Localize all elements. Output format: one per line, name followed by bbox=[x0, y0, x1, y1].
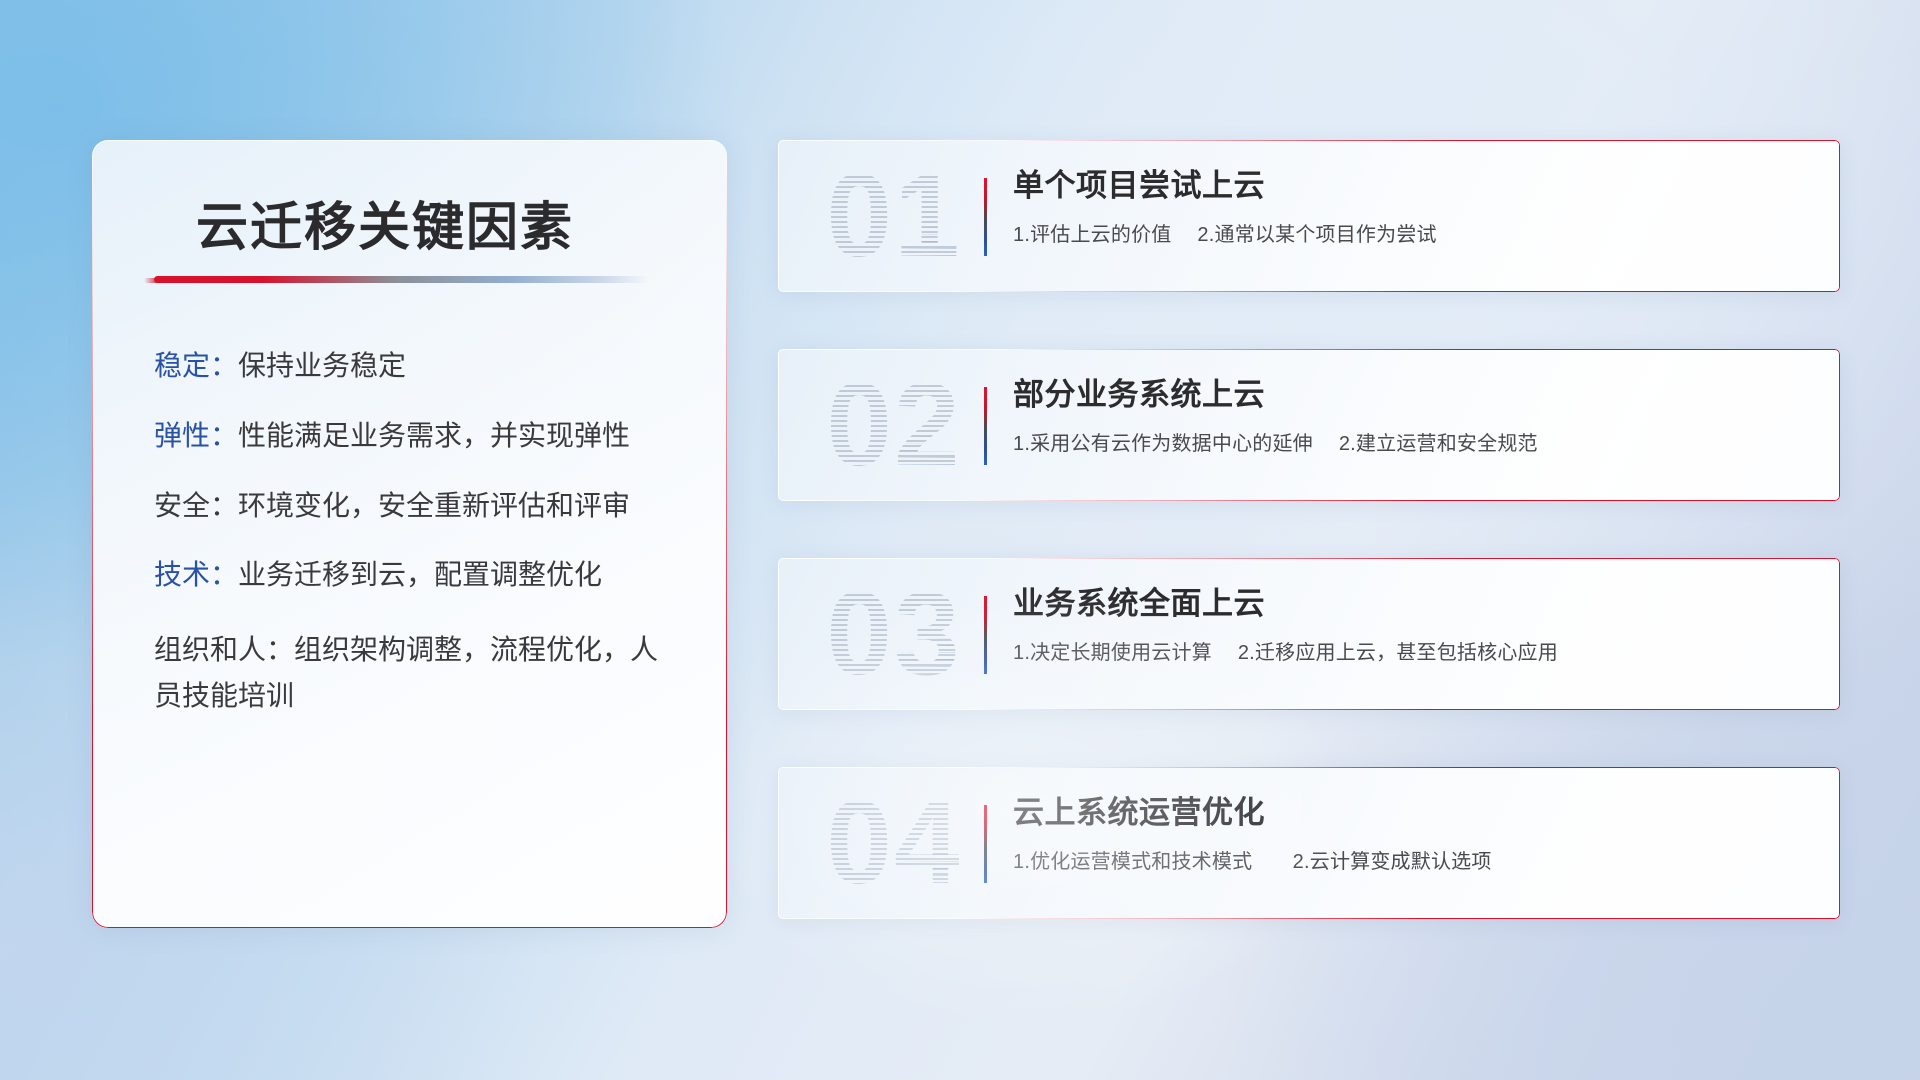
card-description: 1.评估上云的价值 2.通常以某个项目作为尝试 bbox=[1013, 218, 1816, 247]
stage-card[interactable]: 0202部分业务系统上云1.采用公有云作为数据中心的延伸 2.建立运营和安全规范 bbox=[778, 349, 1840, 501]
factor-label: 安全： bbox=[154, 490, 238, 521]
stage-card[interactable]: 0101单个项目尝试上云1.评估上云的价值 2.通常以某个项目作为尝试 bbox=[778, 140, 1840, 292]
card-step-number-watermark: 03 bbox=[804, 558, 984, 710]
factor-row: 弹性：性能满足业务需求，并实现弹性 bbox=[154, 418, 674, 454]
card-description: 1.采用公有云作为数据中心的延伸 2.建立运营和安全规范 bbox=[1013, 427, 1816, 456]
factor-row: 安全：环境变化，安全重新评估和评审 bbox=[154, 488, 674, 524]
card-title: 部分业务系统上云 bbox=[1013, 375, 1816, 415]
card-accent-bar bbox=[984, 178, 987, 256]
factor-label: 技术： bbox=[154, 559, 238, 590]
card-step-number-tint: 04 bbox=[804, 767, 984, 919]
factor-value: 环境变化，安全重新评估和评审 bbox=[238, 490, 630, 521]
card-description: 1.决定长期使用云计算 2.迁移应用上云，甚至包括核心应用 bbox=[1013, 636, 1816, 665]
card-step-number-watermark: 04 bbox=[804, 767, 984, 919]
card-text-block: 部分业务系统上云1.采用公有云作为数据中心的延伸 2.建立运营和安全规范 bbox=[1013, 375, 1816, 456]
card-text-block: 业务系统全面上云1.决定长期使用云计算 2.迁移应用上云，甚至包括核心应用 bbox=[1013, 584, 1816, 665]
card-step-number-tint: 02 bbox=[804, 349, 984, 501]
card-title: 单个项目尝试上云 bbox=[1013, 166, 1816, 206]
stage-card[interactable]: 0303业务系统全面上云1.决定长期使用云计算 2.迁移应用上云，甚至包括核心应… bbox=[778, 558, 1840, 710]
page-title: 云迁移关键因素 bbox=[196, 185, 574, 260]
factor-row: 组织和人：组织架构调整，流程优化，人员技能培训 bbox=[154, 627, 674, 718]
factor-label: 组织和人： bbox=[154, 634, 294, 665]
title-underline-gradient bbox=[154, 276, 650, 283]
card-step-number-watermark: 02 bbox=[804, 349, 984, 501]
card-accent-bar bbox=[984, 387, 987, 465]
factor-value: 保持业务稳定 bbox=[238, 350, 406, 381]
factor-row: 技术：业务迁移到云，配置调整优化 bbox=[154, 557, 674, 593]
factor-label: 稳定： bbox=[154, 350, 238, 381]
card-title: 业务系统全面上云 bbox=[1013, 584, 1816, 624]
card-step-number-watermark: 01 bbox=[804, 140, 984, 292]
factor-value: 性能满足业务需求，并实现弹性 bbox=[238, 420, 630, 451]
factor-value: 业务迁移到云，配置调整优化 bbox=[238, 559, 602, 590]
card-description: 1.优化运营模式和技术模式 2.云计算变成默认选项 bbox=[1013, 845, 1816, 874]
slide-root: 云迁移关键因素 稳定：保持业务稳定弹性：性能满足业务需求，并实现弹性安全：环境变… bbox=[0, 0, 1920, 1080]
card-title: 云上系统运营优化 bbox=[1013, 793, 1816, 833]
card-accent-bar bbox=[984, 596, 987, 674]
key-factors-panel: 云迁移关键因素 稳定：保持业务稳定弹性：性能满足业务需求，并实现弹性安全：环境变… bbox=[92, 140, 727, 928]
card-accent-bar bbox=[984, 805, 987, 883]
factor-list: 稳定：保持业务稳定弹性：性能满足业务需求，并实现弹性安全：环境变化，安全重新评估… bbox=[154, 348, 674, 752]
card-step-number-tint: 03 bbox=[804, 558, 984, 710]
stage-card-list: 0101单个项目尝试上云1.评估上云的价值 2.通常以某个项目作为尝试0202部… bbox=[778, 140, 1840, 976]
card-text-block: 云上系统运营优化1.优化运营模式和技术模式 2.云计算变成默认选项 bbox=[1013, 793, 1816, 874]
card-text-block: 单个项目尝试上云1.评估上云的价值 2.通常以某个项目作为尝试 bbox=[1013, 166, 1816, 247]
stage-card[interactable]: 0404云上系统运营优化1.优化运营模式和技术模式 2.云计算变成默认选项 bbox=[778, 767, 1840, 919]
card-step-number-tint: 01 bbox=[804, 140, 984, 292]
factor-label: 弹性： bbox=[154, 420, 238, 451]
factor-row: 稳定：保持业务稳定 bbox=[154, 348, 674, 384]
